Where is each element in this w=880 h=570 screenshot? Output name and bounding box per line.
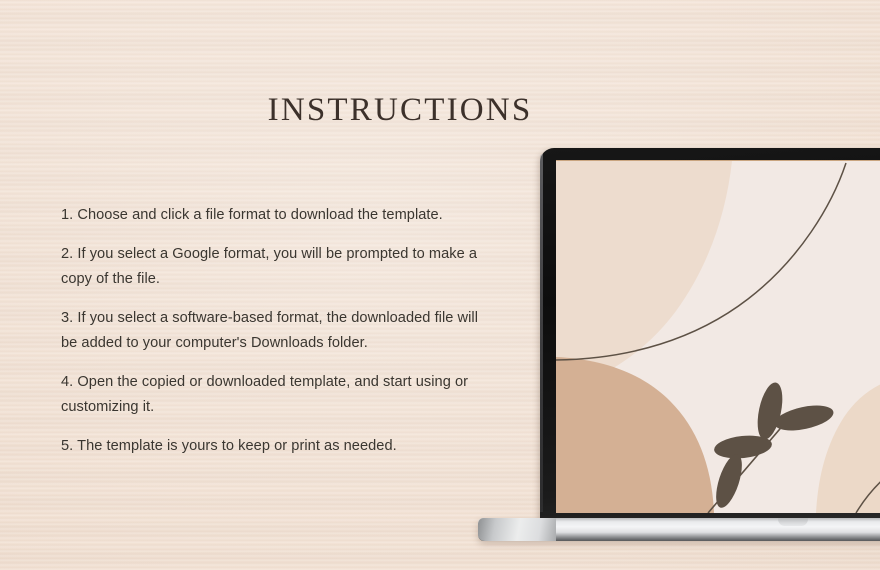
- laptop-base-notch: [778, 518, 808, 526]
- instruction-step-3: 3. If you select a software-based format…: [61, 306, 493, 356]
- laptop-base-left-edge: [478, 518, 556, 541]
- laptop-screen: [556, 160, 880, 513]
- instruction-step-1: 1. Choose and click a file format to dow…: [61, 203, 493, 228]
- laptop-lid-bezel: [540, 148, 880, 520]
- instruction-step-5: 5. The template is yours to keep or prin…: [61, 434, 493, 459]
- instruction-step-2: 2. If you select a Google format, you wi…: [61, 242, 493, 292]
- instruction-step-4: 4. Open the copied or downloaded templat…: [61, 370, 493, 420]
- instructions-page: INSTRUCTIONS 1. Choose and click a file …: [0, 0, 880, 570]
- abstract-wallpaper-artwork: [556, 161, 880, 513]
- laptop-mockup: [540, 148, 880, 548]
- instructions-list: 1. Choose and click a file format to dow…: [61, 203, 501, 459]
- page-title: INSTRUCTIONS: [0, 92, 800, 129]
